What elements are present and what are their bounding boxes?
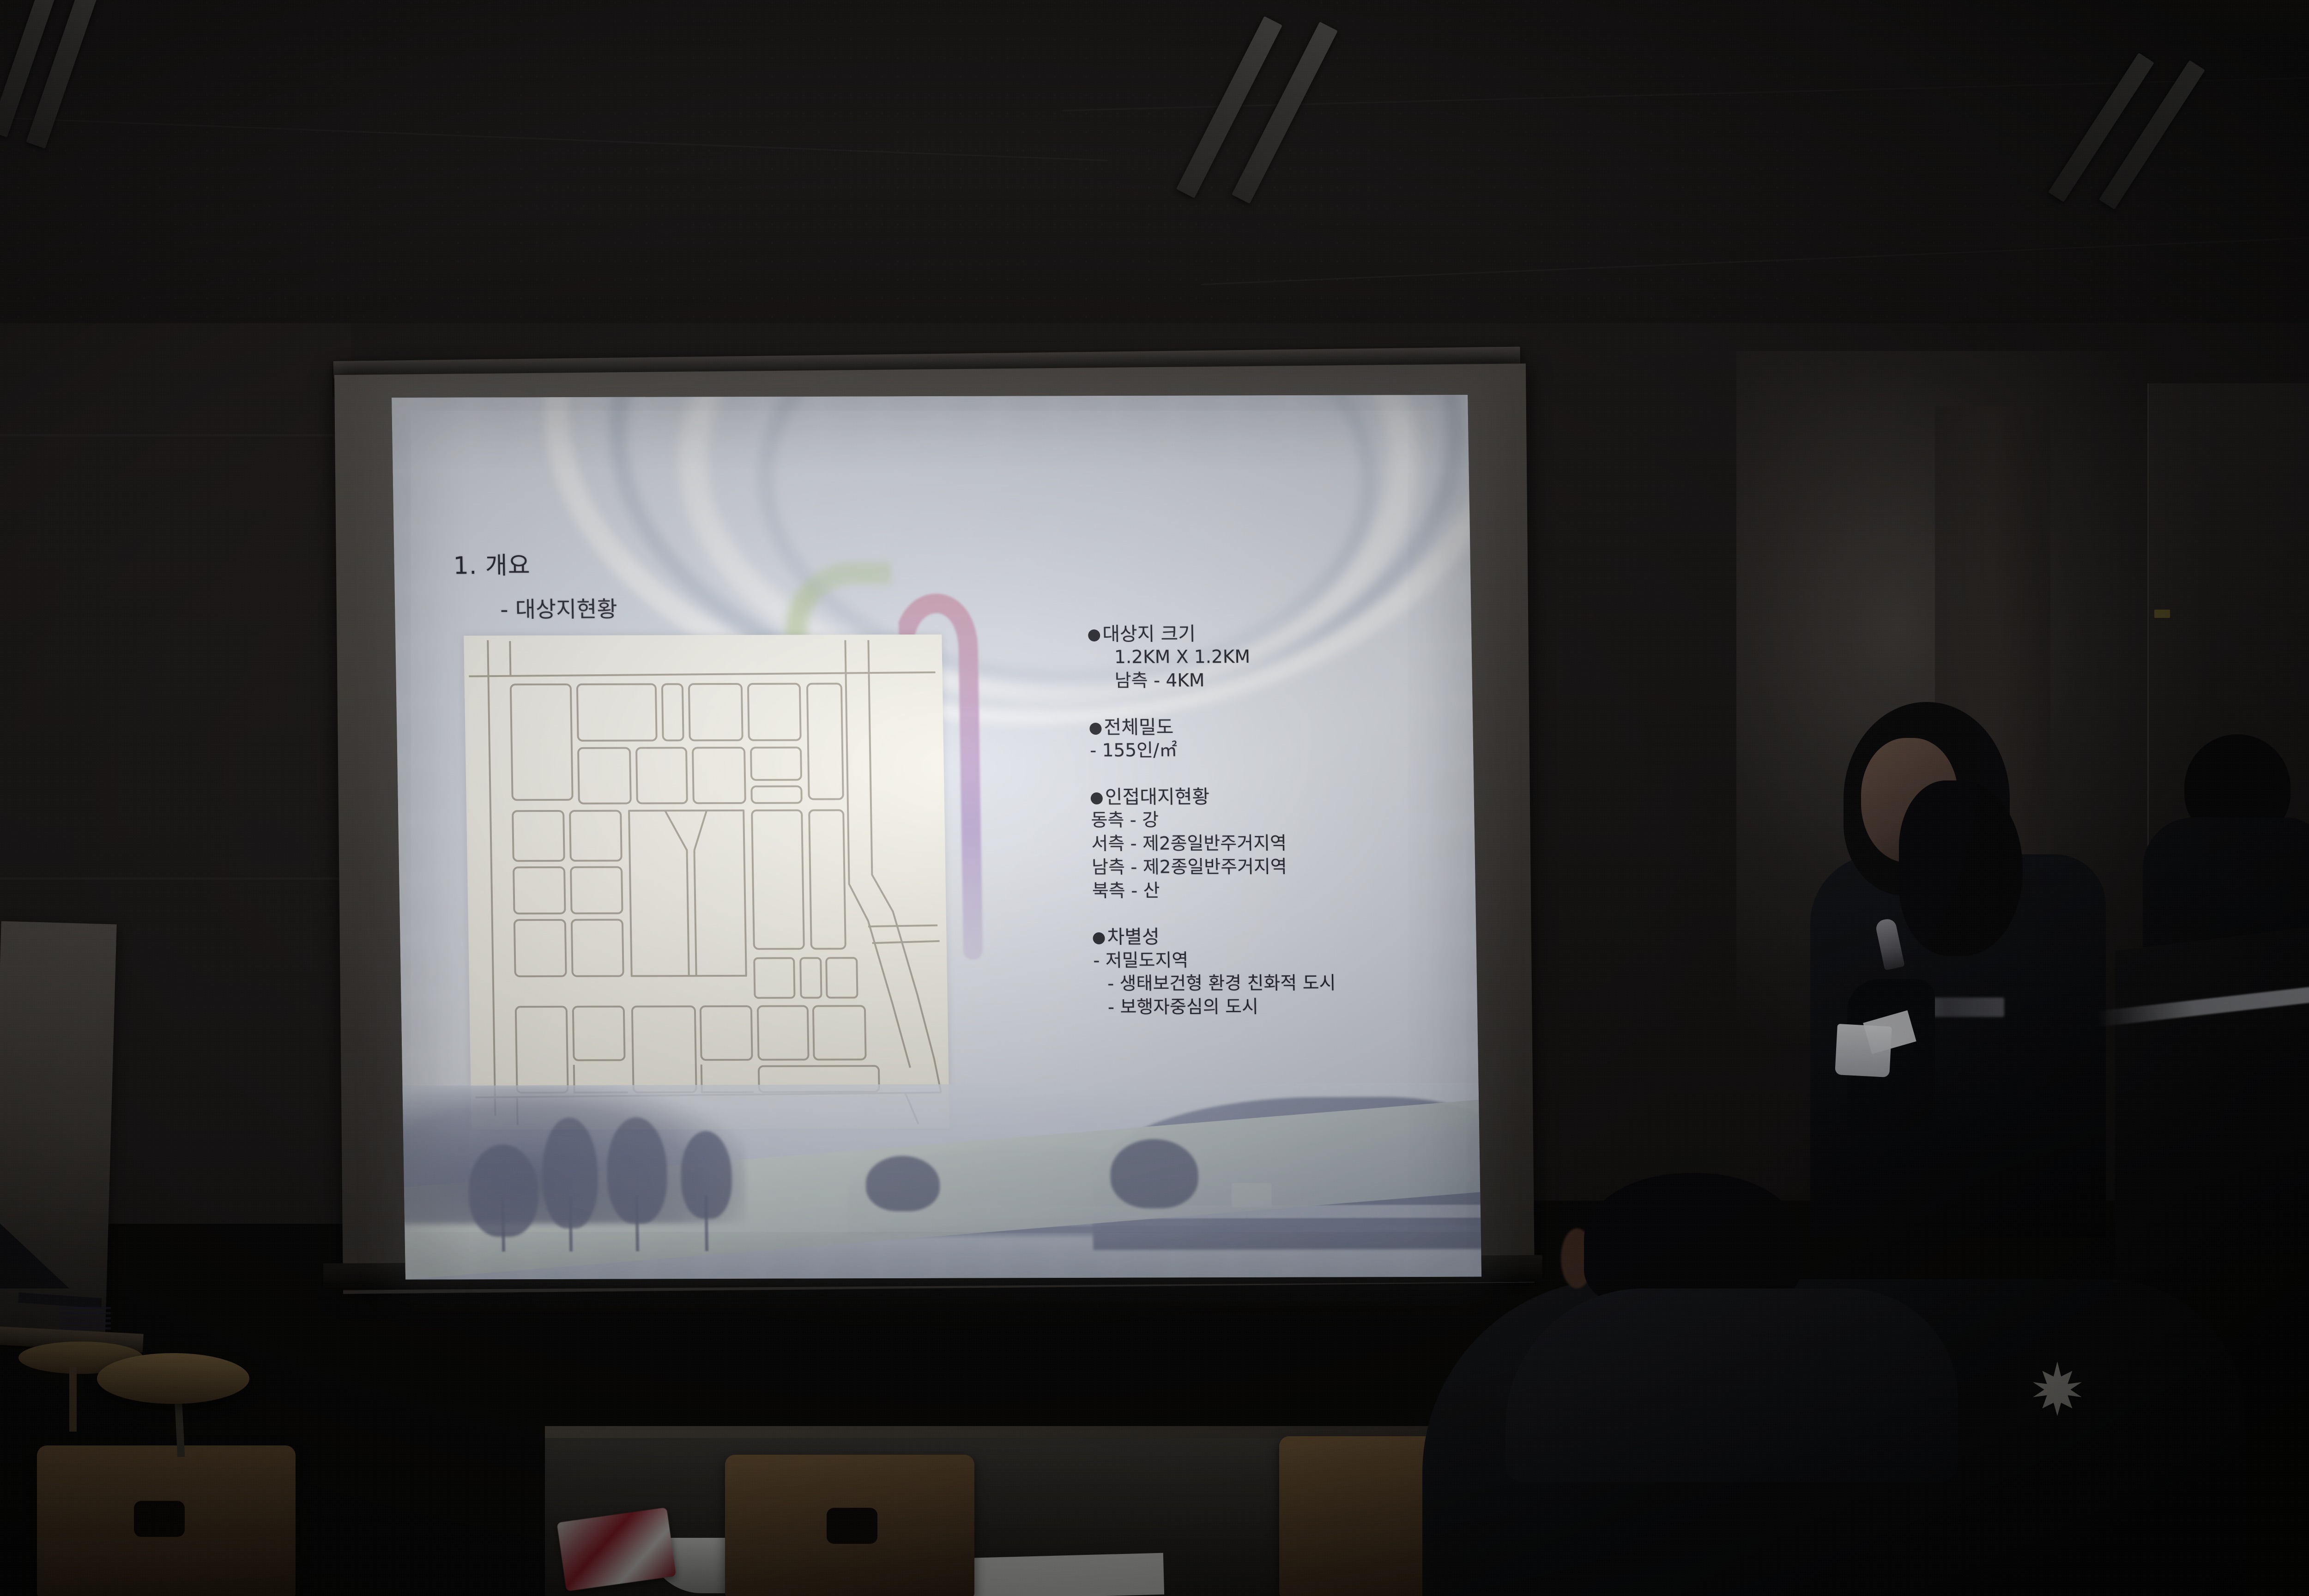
bullet-heading: 차별성 <box>1093 924 1472 949</box>
photo-tree <box>865 1156 940 1211</box>
jacket-hood <box>1505 1288 1958 1482</box>
slide-bullet-column: 대상지 크기 1.2KM X 1.2KM 남측 - 4KM 전체밀도 - 155… <box>1088 621 1473 1042</box>
bullet-line: 서측 - 제2종일반주거지역 <box>1091 832 1470 856</box>
bullet-line: - 보행자중심의 도시 <box>1094 995 1473 1020</box>
ceiling-tile-texture <box>0 0 2309 351</box>
ceiling <box>0 0 2309 351</box>
bullet-group-density: 전체밀도 - 155인/㎡ <box>1089 714 1469 763</box>
presenter <box>1792 702 2134 1238</box>
photo-tree <box>1110 1139 1198 1208</box>
bullet-heading-text: 전체밀도 <box>1104 716 1174 738</box>
bullet-line: - 155인/㎡ <box>1090 738 1469 763</box>
bullet-heading-text: 대상지 크기 <box>1102 623 1196 645</box>
bullet-line: 1.2KM X 1.2KM <box>1088 645 1468 670</box>
slide-photo-strip <box>402 1083 1481 1280</box>
bullet-line: - 저밀도지역 <box>1093 948 1472 973</box>
slide-canvas: 1. 개요 - 대상지현황 <box>392 395 1481 1280</box>
bullet-group-size: 대상지 크기 1.2KM X 1.2KM 남측 - 4KM <box>1088 621 1468 693</box>
bullet-dot-icon <box>1089 723 1101 735</box>
bullet-group-adjacent-sites: 인접대지현황 동측 - 강 서측 - 제2종일반주거지역 남측 - 제2종일반주… <box>1090 784 1471 903</box>
bullet-heading-text: 인접대지현황 <box>1105 786 1209 808</box>
wall-trim <box>0 877 351 880</box>
bullet-line: - 생태보건형 환경 친화적 도시 <box>1094 972 1473 996</box>
bullet-line: 남측 - 제2종일반주거지역 <box>1092 855 1471 880</box>
bullet-heading: 대상지 크기 <box>1088 621 1467 647</box>
chair-handle-cutout <box>827 1508 877 1544</box>
stool-leg <box>69 1367 77 1432</box>
foreground-person <box>1422 1173 2244 1596</box>
presenter-hair <box>1899 780 2023 956</box>
site-plan-map <box>464 635 949 1130</box>
bullet-line: 북측 - 산 <box>1092 878 1471 903</box>
maple-leaf-emblem-icon <box>2027 1358 2087 1418</box>
poster-graphic <box>0 1219 69 1288</box>
bullet-heading: 인접대지현황 <box>1090 784 1469 810</box>
poster-text-lines <box>60 1307 111 1331</box>
slide-title: 1. 개요 <box>453 546 531 580</box>
slide-subtitle: - 대상지현황 <box>500 591 618 624</box>
bullet-dot-icon <box>1088 629 1100 641</box>
bullet-dot-icon <box>1093 932 1105 944</box>
wooden-chair-seat[interactable] <box>97 1353 249 1404</box>
bullet-heading-text: 차별성 <box>1107 926 1160 948</box>
wall-trim <box>0 434 351 436</box>
bullet-group-differentiation: 차별성 - 저밀도지역 - 생태보건형 환경 친화적 도시 - 보행자중심의 도… <box>1093 924 1473 1020</box>
bullet-heading: 전체밀도 <box>1089 714 1469 740</box>
bullet-line: 남측 - 4KM <box>1088 669 1468 693</box>
bullet-line: 동측 - 강 <box>1091 808 1470 833</box>
screenshot-root: 1. 개요 - 대상지현황 <box>0 0 2309 1596</box>
cup <box>1835 1024 1892 1077</box>
chair-handle-cutout <box>134 1501 185 1537</box>
bullet-dot-icon <box>1091 792 1103 804</box>
projected-slide: 1. 개요 - 대상지현황 <box>392 395 1481 1280</box>
